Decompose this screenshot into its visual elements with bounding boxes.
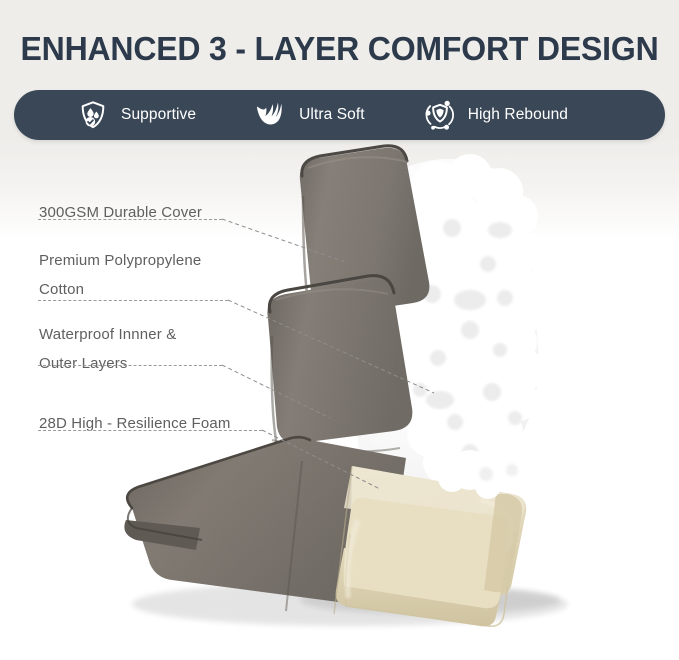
annotation-rule [38,365,222,366]
backrest-lower [267,276,412,458]
annotation-rule [38,300,228,301]
annotation-line: 28D High - Resilience Foam [39,409,230,438]
annotation-rule [38,430,262,431]
annotation-foam: 28D High - Resilience Foam [39,409,230,438]
annotation-line: Outer Layers [39,349,176,378]
annotation-line: Premium Polypropylene [39,246,201,275]
annotation-line: 300GSM Durable Cover [39,198,202,227]
annotation-line: Waterproof Innner & [39,320,176,349]
annotation-waterproof: Waterproof Innner & Outer Layers [39,320,176,378]
infographic-root: ENHANCED 3 - LAYER COMFORT DESIGN Suppor… [0,0,679,660]
annotation-cotton: Premium Polypropylene Cotton [39,246,201,304]
annotation-rule [38,219,222,220]
annotation-cover: 300GSM Durable Cover [39,198,202,227]
